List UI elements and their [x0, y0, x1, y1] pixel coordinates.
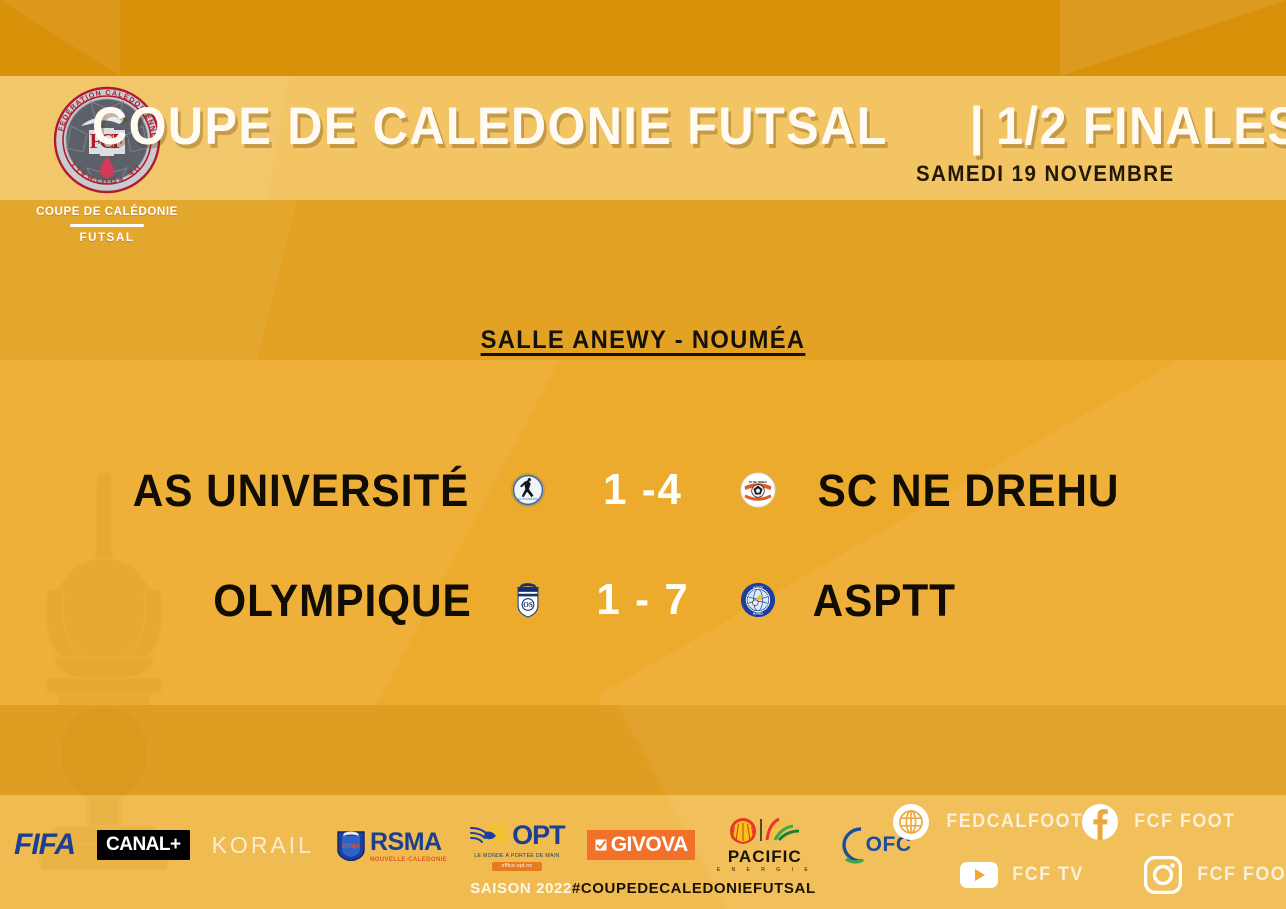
home-team-name: AS UNIVERSITÉ — [133, 468, 470, 513]
decor-ray-4 — [600, 360, 1286, 705]
givova-logo: GIVOVA — [611, 833, 688, 857]
givova-logo-wrap: GIVOVA — [587, 830, 695, 860]
social-label: FEDCALFOOT — [946, 811, 1083, 833]
korail-logo: KORAIL — [212, 832, 314, 859]
pacific-subtitle: E N E R G I E — [717, 867, 813, 873]
rsma-subtitle: NOUVELLE-CALEDONIE — [370, 857, 447, 863]
sponsor-opt: OPT LE MONDE À PORTÉE DE MAIN office.opt… — [469, 820, 565, 871]
rsma-logo: RSMA — [370, 828, 442, 856]
away-team-name: ASPTT — [813, 578, 956, 623]
match-score: 1 -4 — [603, 468, 683, 512]
away-team-logo-slot: SC NE DREHU — [728, 472, 788, 508]
svg-text:OS: OS — [523, 601, 533, 609]
social-link-facebook[interactable]: FCF FOOT — [1081, 803, 1239, 841]
header-title-line: COUPE DE CALEDONIE FUTSAL | 1/2 FINALES — [210, 96, 1210, 157]
opt-url-pill: office.opt.nc — [492, 862, 543, 871]
sc-ne-drehu-crest-icon: SC NE DREHU — [740, 472, 776, 508]
logo-divider — [70, 224, 144, 227]
home-team-name-slot: OLYMPIQUE — [198, 578, 498, 623]
footer-tagline: SAISON 2022#COUPEDECALEDONIEFUTSAL — [0, 880, 1286, 897]
globe-icon — [892, 803, 930, 841]
match-score: 1 - 7 — [596, 578, 689, 622]
ofc-arc-icon — [835, 826, 865, 864]
hashtag-label: #COUPEDECALEDONIEFUTSAL — [572, 880, 816, 897]
svg-text:SC NE DREHU: SC NE DREHU — [749, 480, 768, 484]
title-stage: 1/2 FINALES — [996, 100, 1286, 153]
fifa-logo: FIFA — [14, 828, 75, 862]
away-team-name: SC NE DREHU — [818, 468, 1120, 513]
band-top-strip — [0, 0, 1286, 76]
pacific-shell-icon — [727, 817, 803, 847]
home-team-logo-slot: FUTSAL OS — [498, 582, 558, 618]
opt-subtitle: LE MONDE À PORTÉE DE MAIN — [474, 853, 559, 859]
opt-logo-row: OPT — [469, 820, 565, 851]
opt-bird-icon — [469, 822, 509, 848]
home-team-name-slot: AS UNIVERSITÉ — [198, 468, 498, 513]
as-universite-crest-icon: AS UNIVERSITE — [510, 472, 546, 508]
olympique-crest-icon: FUTSAL OS — [510, 582, 546, 618]
away-team-logo-slot: ASPTT NOUMEA — [728, 582, 788, 618]
social-label: FCF FOOT — [1134, 811, 1235, 833]
match-row: OLYMPIQUE FUTSAL OS 1 - 7 — [0, 562, 1286, 638]
sponsor-givova: GIVOVA — [587, 830, 695, 860]
social-link-website[interactable]: FEDCALFOOT — [892, 803, 1088, 841]
title-separator: | — [969, 96, 984, 157]
asptt-crest-icon: ASPTT NOUMEA — [740, 582, 776, 618]
poster-canvas: F C F FÉDÉRATION CALÉDONIENNE DE FOOTBAL… — [0, 0, 1286, 909]
pacific-logo: PACIFIC — [728, 847, 802, 867]
givova-check-icon — [594, 838, 608, 852]
svg-text:AS UNIVERSITE: AS UNIVERSITE — [518, 497, 539, 501]
match-score-slot: 1 -4 — [558, 468, 728, 512]
season-label: SAISON 2022 — [470, 880, 572, 897]
logo-caption-top: COUPE DE CALÉDONIE — [36, 206, 178, 218]
svg-text:RSMA: RSMA — [342, 844, 360, 850]
sponsor-rsma: RSMA RSMA NOUVELLE-CALEDONIE — [336, 828, 447, 863]
away-team-name-slot: ASPTT — [788, 578, 1088, 623]
page-title: COUPE DE CALEDONIE FUTSAL — [92, 100, 888, 153]
header-title-block: COUPE DE CALEDONIE FUTSAL | 1/2 FINALES … — [210, 96, 1210, 187]
home-team-name: OLYMPIQUE — [213, 578, 471, 623]
facebook-icon — [1081, 803, 1119, 841]
canal-plus-logo: CANAL+ — [97, 830, 190, 860]
svg-text:FUTSAL: FUTSAL — [523, 583, 533, 586]
opt-logo: OPT — [512, 820, 565, 851]
logo-caption-bottom: FUTSAL — [80, 232, 135, 244]
match-score-slot: 1 - 7 — [558, 578, 728, 622]
venue-label: SALLE ANEWY - NOUMÉA — [32, 326, 1254, 355]
match-row: AS UNIVERSITÉ AS UNIVERSITE 1 -4 — [0, 452, 1286, 528]
sponsor-pacific-energie: PACIFIC E N E R G I E — [717, 817, 813, 873]
sponsor-logo-strip: FIFA CANAL+ KORAIL RSMA RSMA NOUVELLE-CA… — [14, 812, 911, 878]
rsma-shield-icon: RSMA — [336, 829, 366, 861]
sponsor-canal-plus: CANAL+ — [97, 830, 190, 860]
sponsor-korail: KORAIL — [212, 832, 314, 859]
header-subtitle-date: SAMEDI 19 NOVEMBRE — [280, 161, 1210, 187]
home-team-logo-slot: AS UNIVERSITE — [498, 472, 558, 508]
away-team-name-slot: SC NE DREHU — [788, 468, 1088, 513]
sponsor-fifa: FIFA — [14, 828, 75, 862]
